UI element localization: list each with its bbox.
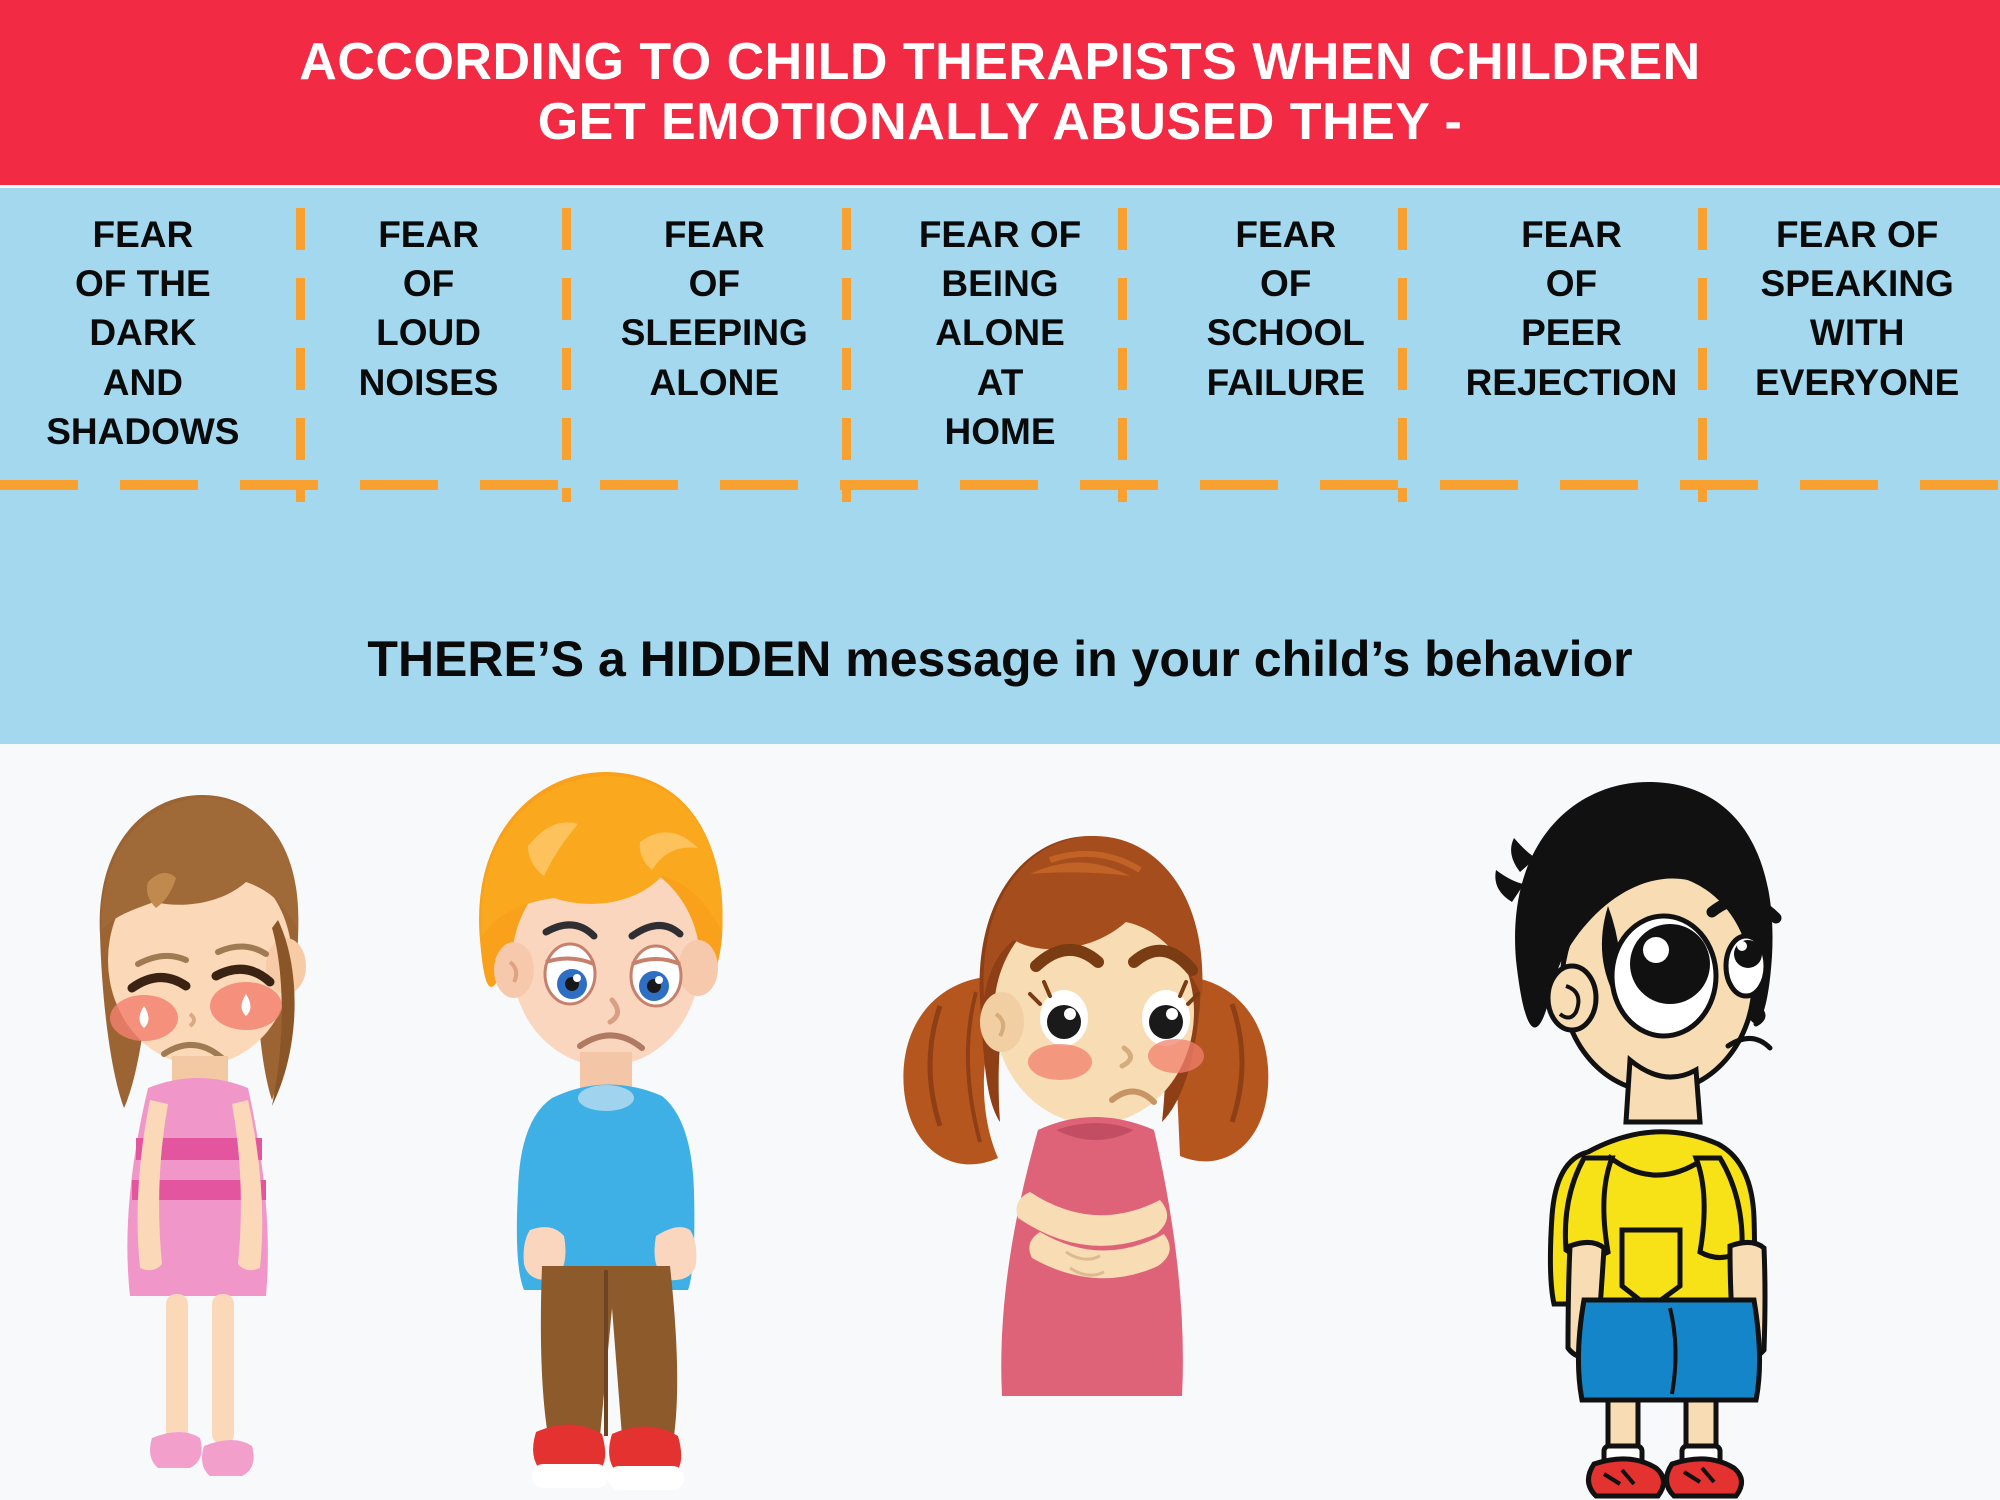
vertical-dashed-divider — [1398, 208, 1407, 502]
child-illustration-angry-girl — [880, 800, 1280, 1500]
vertical-dashed-divider — [1698, 208, 1707, 502]
fear-column-sleeping-alone: FEAR OF SLEEPING ALONE — [571, 188, 857, 407]
child-illustration-crying-girl — [40, 770, 340, 1500]
sad-boy-icon — [440, 750, 760, 1500]
header-title: ACCORDING TO CHILD THERAPISTS WHEN CHILD… — [299, 33, 1700, 153]
infographic-poster: ACCORDING TO CHILD THERAPISTS WHEN CHILD… — [0, 0, 2000, 1500]
horizontal-dashed-divider — [0, 480, 2000, 490]
child-illustration-sad-boy — [440, 750, 760, 1500]
angry-girl-icon — [880, 800, 1280, 1500]
fear-column-label: FEAR OF BEING ALONE AT HOME — [919, 210, 1081, 456]
fear-column-label: FEAR OF SLEEPING ALONE — [621, 210, 808, 407]
worried-boy-icon — [1480, 760, 1820, 1500]
fear-column-label: FEAR OF PEER REJECTION — [1466, 210, 1678, 407]
fear-column-label: FEAR OF SPEAKING WITH EVERYONE — [1755, 210, 1959, 407]
child-illustration-worried-boy — [1480, 760, 1820, 1500]
fear-columns-container: FEAR OF THE DARK AND SHADOWS FEAR OF LOU… — [0, 188, 2000, 588]
fear-column-label: FEAR OF THE DARK AND SHADOWS — [46, 210, 239, 456]
vertical-dashed-divider — [1118, 208, 1127, 502]
fear-column-alone-at-home: FEAR OF BEING ALONE AT HOME — [857, 188, 1143, 456]
fear-column-school-failure: FEAR OF SCHOOL FAILURE — [1143, 188, 1429, 407]
fear-list-section: FEAR OF THE DARK AND SHADOWS FEAR OF LOU… — [0, 188, 2000, 744]
fear-column-peer-rejection: FEAR OF PEER REJECTION — [1429, 188, 1715, 407]
header-banner: ACCORDING TO CHILD THERAPISTS WHEN CHILD… — [0, 0, 2000, 185]
fear-column-label: FEAR OF LOUD NOISES — [359, 210, 499, 407]
vertical-dashed-divider — [296, 208, 305, 502]
crying-girl-icon — [40, 770, 340, 1500]
subtitle-text: THERE’S a HIDDEN message in your child’s… — [367, 630, 1632, 688]
fear-column-loud-noises: FEAR OF LOUD NOISES — [286, 188, 572, 407]
fear-column-speaking-everyone: FEAR OF SPEAKING WITH EVERYONE — [1714, 188, 2000, 407]
subtitle-row: THERE’S a HIDDEN message in your child’s… — [0, 584, 2000, 734]
fear-column-dark-shadows: FEAR OF THE DARK AND SHADOWS — [0, 188, 286, 456]
children-illustrations-strip — [0, 744, 2000, 1500]
vertical-dashed-divider — [842, 208, 851, 502]
vertical-dashed-divider — [562, 208, 571, 502]
fear-column-label: FEAR OF SCHOOL FAILURE — [1207, 210, 1365, 407]
